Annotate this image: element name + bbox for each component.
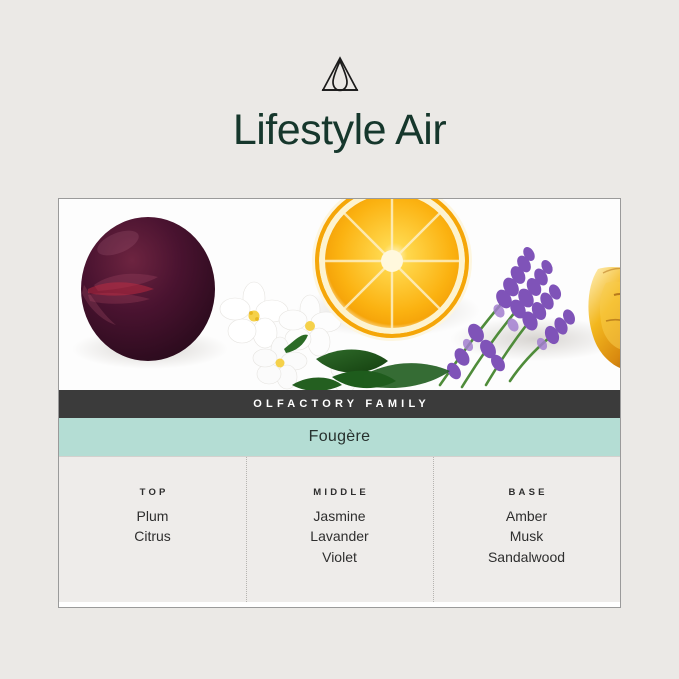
notes-column-middle: MIDDLE Jasmine Lavander Violet bbox=[246, 457, 433, 602]
olfactory-family-label: OLFACTORY FAMILY bbox=[249, 398, 430, 410]
fragrance-notes-pyramid: TOP Plum Citrus MIDDLE Jasmine Lavander … bbox=[59, 456, 620, 602]
product-fragrance-card-page: Lifestyle Air bbox=[0, 0, 679, 679]
note-item: Musk bbox=[433, 526, 620, 546]
notes-column-middle-list: Jasmine Lavander Violet bbox=[246, 506, 433, 567]
notes-column-base-title: BASE bbox=[433, 487, 620, 498]
fragrance-profile-card: OLFACTORY FAMILY Fougère TOP Plum Citrus… bbox=[58, 198, 621, 608]
note-item: Plum bbox=[59, 506, 246, 526]
page-title: Lifestyle Air bbox=[0, 108, 679, 153]
notes-column-top-title: TOP bbox=[59, 487, 246, 498]
brand-header: Lifestyle Air bbox=[0, 52, 679, 153]
notes-column-base-list: Amber Musk Sandalwood bbox=[433, 506, 620, 567]
note-item: Citrus bbox=[59, 526, 246, 546]
note-item: Amber bbox=[433, 506, 620, 526]
notes-column-top-list: Plum Citrus bbox=[59, 506, 246, 547]
note-item: Jasmine bbox=[246, 506, 433, 526]
olfactory-family-value: Fougère bbox=[309, 428, 371, 446]
notes-column-base: BASE Amber Musk Sandalwood bbox=[433, 457, 620, 602]
notes-column-top: TOP Plum Citrus bbox=[59, 457, 246, 602]
ingredients-illustration bbox=[59, 199, 620, 390]
olfactory-family-value-band: Fougère bbox=[59, 418, 620, 456]
note-item: Lavander bbox=[246, 526, 433, 546]
note-item: Violet bbox=[246, 547, 433, 567]
olfactory-family-banner: OLFACTORY FAMILY bbox=[59, 390, 620, 418]
notes-column-middle-title: MIDDLE bbox=[246, 487, 433, 498]
triangle-droplet-logo-icon bbox=[316, 52, 364, 100]
hero-ingredients-image bbox=[59, 199, 620, 390]
note-item: Sandalwood bbox=[433, 547, 620, 567]
